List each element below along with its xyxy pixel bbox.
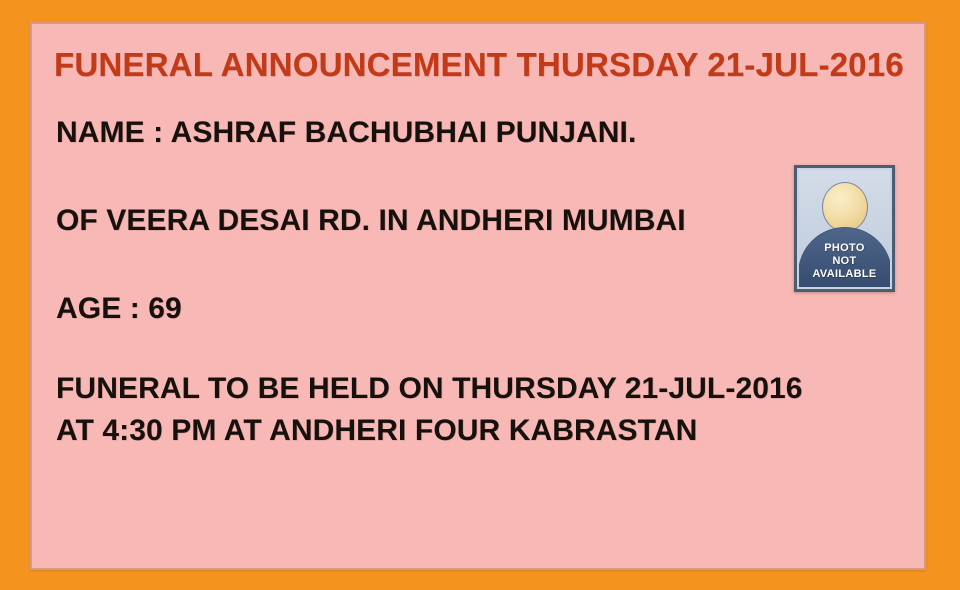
funeral-details-line-2: AT 4:30 PM AT ANDHERI FOUR KABRASTAN xyxy=(56,414,697,448)
deceased-age-line: AGE : 69 xyxy=(56,292,182,326)
photo-caption-line-3: AVAILABLE xyxy=(799,268,890,281)
photo-placeholder-inner: PHOTO NOT AVAILABLE xyxy=(799,170,890,287)
deceased-address-line: OF VEERA DESAI RD. IN ANDHERI MUMBAI xyxy=(56,204,686,238)
photo-caption-line-2: NOT xyxy=(799,255,890,268)
announcement-card: FUNERAL ANNOUNCEMENT THURSDAY 21-JUL-201… xyxy=(30,22,926,570)
photo-not-available-placeholder: PHOTO NOT AVAILABLE xyxy=(794,165,895,292)
funeral-announcement-poster: FUNERAL ANNOUNCEMENT THURSDAY 21-JUL-201… xyxy=(0,0,960,590)
funeral-details-line-1: FUNERAL TO BE HELD ON THURSDAY 21-JUL-20… xyxy=(56,372,803,406)
announcement-headline: FUNERAL ANNOUNCEMENT THURSDAY 21-JUL-201… xyxy=(54,46,914,84)
photo-placeholder-caption: PHOTO NOT AVAILABLE xyxy=(799,242,890,281)
deceased-name-line: NAME : ASHRAF BACHUBHAI PUNJANI. xyxy=(56,116,636,150)
photo-caption-line-1: PHOTO xyxy=(799,242,890,255)
person-head-icon xyxy=(822,182,868,232)
